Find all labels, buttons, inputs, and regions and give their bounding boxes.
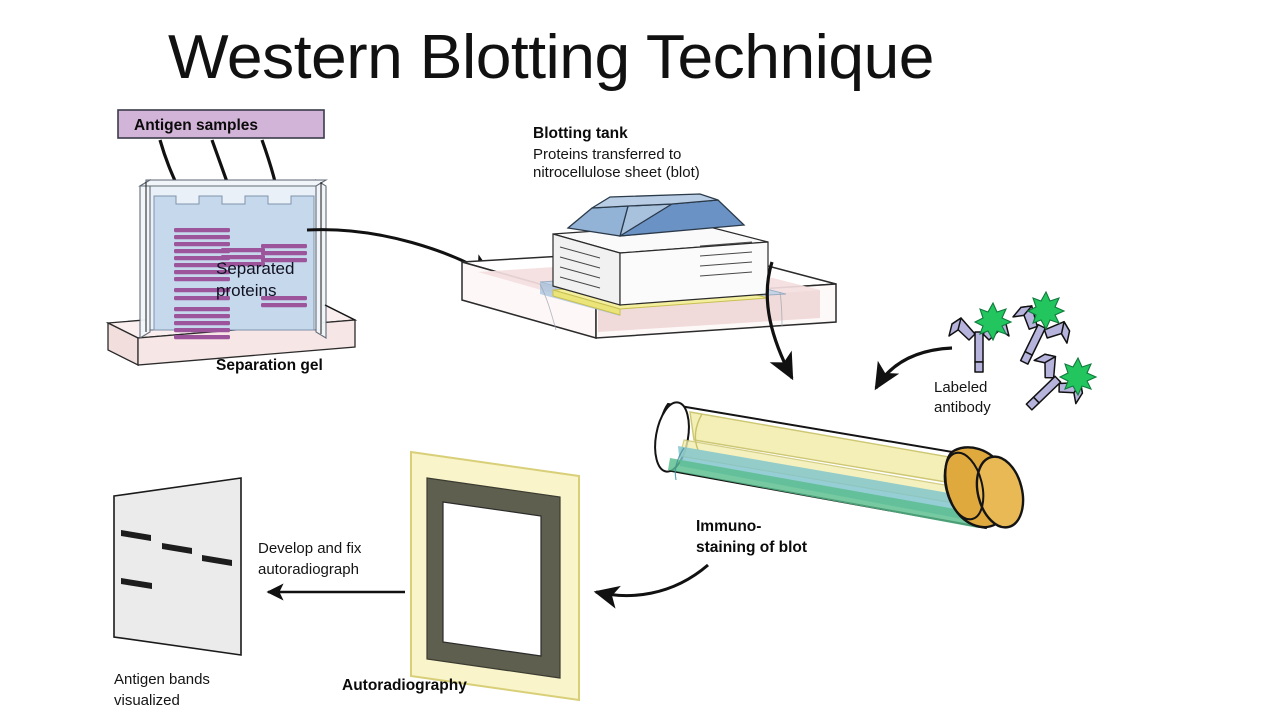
- gel-band: [221, 248, 265, 252]
- blotting-tank-desc-1: Proteins transferred to: [533, 146, 681, 163]
- develop-and-fix-group: Develop and fix autoradiograph: [258, 540, 405, 592]
- gel-band: [174, 335, 230, 339]
- gel-band: [174, 321, 230, 325]
- separated-proteins-line-2: proteins: [216, 281, 276, 300]
- gel-band: [174, 242, 230, 246]
- weight-left-face: [568, 206, 628, 236]
- developed-film: Antigen bands visualized: [114, 478, 241, 709]
- stack-face-front: [620, 242, 768, 305]
- gel-band: [261, 303, 307, 307]
- develop-fix-line-1: Develop and fix: [258, 540, 362, 557]
- labeled-antibody-group: Labeled antibody: [876, 292, 1096, 429]
- blotting-tank-desc-2: nitrocellulose sheet (blot): [533, 164, 700, 181]
- separation-gel-label: Separation gel: [216, 357, 323, 374]
- glass-edge-top: [140, 180, 326, 186]
- immunostaining-line-2: staining of blot: [696, 539, 807, 556]
- immunostaining-tube: Immuno- staining of blot: [650, 400, 1030, 556]
- separation-gel-apparatus: Separated proteins Separation gel: [108, 180, 355, 374]
- immunostaining-line-1: Immuno-: [696, 518, 761, 535]
- film-sheet: [114, 478, 241, 655]
- blotting-tank-label: Blotting tank: [533, 125, 628, 142]
- antigen-samples-callout: Antigen samples: [118, 110, 324, 138]
- gel-band: [174, 228, 230, 232]
- labeled-antibody-line-2: antibody: [934, 399, 991, 416]
- arrow-tube-to-cassette: [596, 565, 708, 596]
- autoradiography-cassette: Autoradiography: [342, 452, 579, 700]
- develop-fix-line-2: autoradiograph: [258, 561, 359, 578]
- gel-band: [174, 328, 230, 332]
- gel-band: [174, 314, 230, 318]
- glass-edge-left: [140, 180, 150, 338]
- gel-band: [174, 307, 230, 311]
- gel-band: [261, 244, 307, 248]
- gel-band: [174, 235, 230, 239]
- page-title: Western Blotting Technique: [168, 23, 934, 92]
- separated-proteins-line-1: Separated: [216, 259, 294, 278]
- western-blot-diagram: Western Blotting Technique Antigen sampl…: [0, 0, 1280, 720]
- cassette-window: [443, 502, 541, 656]
- antigen-bands-line-1: Antigen bands: [114, 671, 210, 688]
- antigen-bands-line-2: visualized: [114, 692, 180, 709]
- slide-canvas: Western Blotting Technique Antigen sampl…: [0, 0, 1280, 720]
- gel-band: [261, 251, 307, 255]
- labeled-antibody-line-1: Labeled: [934, 379, 987, 396]
- blotting-tank-group: Blotting tank Proteins transferred to ni…: [462, 125, 836, 338]
- autoradiography-label: Autoradiography: [342, 677, 467, 694]
- antibody-1: [949, 303, 1011, 372]
- antigen-samples-label: Antigen samples: [134, 117, 258, 134]
